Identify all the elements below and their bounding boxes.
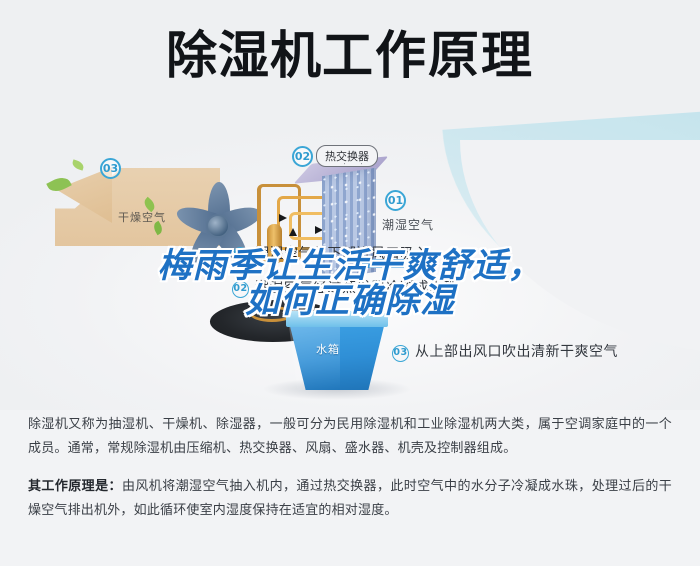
step-badge-03: 03 <box>392 345 409 362</box>
paragraph-1: 除湿机又称为抽湿机、干燥机、除湿器，一般可分为民用除湿机和工业除湿机两大类，属于… <box>28 412 672 460</box>
article-body: 除湿机又称为抽湿机、干燥机、除湿器，一般可分为民用除湿机和工业除湿机两大类，属于… <box>0 412 700 526</box>
callout-badge-01: 01 <box>385 190 406 211</box>
step-text-03: 从上部出风口吹出清新干爽空气 <box>415 343 618 359</box>
paragraph-2-rest: 由风机将潮湿空气抽入机内，通过热交换器，此时空气中的水分子冷凝成水珠，处理过后的… <box>28 478 672 517</box>
water-tank-label: 水箱 <box>316 341 340 357</box>
article-page: 除湿机工作原理 干燥空气 <box>0 0 700 566</box>
page-title: 除湿机工作原理 <box>0 30 700 84</box>
paragraph-2-lead: 其工作原理是： <box>28 478 122 493</box>
page-title-part2: 工作原理 <box>322 27 534 86</box>
step-badge-01: 01 <box>232 247 249 264</box>
water-tank-lip <box>286 311 388 327</box>
callout-badge-02: 02 <box>292 146 313 167</box>
flow-arrow-icon <box>289 228 297 236</box>
step-badge-02: 02 <box>232 281 249 298</box>
moist-air-flow-band-cutout <box>460 140 700 355</box>
step-line-01: 01潮湿空气从下部进风口吸入 <box>232 243 429 264</box>
step-text-02: 潮湿空气经过蒸发器冷凝成水珠 <box>255 279 458 295</box>
flow-arrow-icon <box>279 214 287 222</box>
leaf-icon <box>71 159 85 170</box>
step-line-03: 03从上部出风口吹出清新干爽空气 <box>392 341 618 362</box>
step-text-01: 潮湿空气从下部进风口吸入 <box>255 245 429 261</box>
page-title-part1: 除湿机 <box>166 27 322 86</box>
fan-hub <box>206 214 230 238</box>
moist-air-label: 潮湿空气 <box>382 216 434 233</box>
callout-badge-03: 03 <box>100 158 121 179</box>
infographic-hero: 除湿机工作原理 干燥空气 <box>0 0 700 410</box>
paragraph-2: 其工作原理是：由风机将潮湿空气抽入机内，通过热交换器，此时空气中的水分子冷凝成水… <box>28 474 672 522</box>
step-line-02: 02潮湿空气经过蒸发器冷凝成水珠 <box>232 277 458 298</box>
